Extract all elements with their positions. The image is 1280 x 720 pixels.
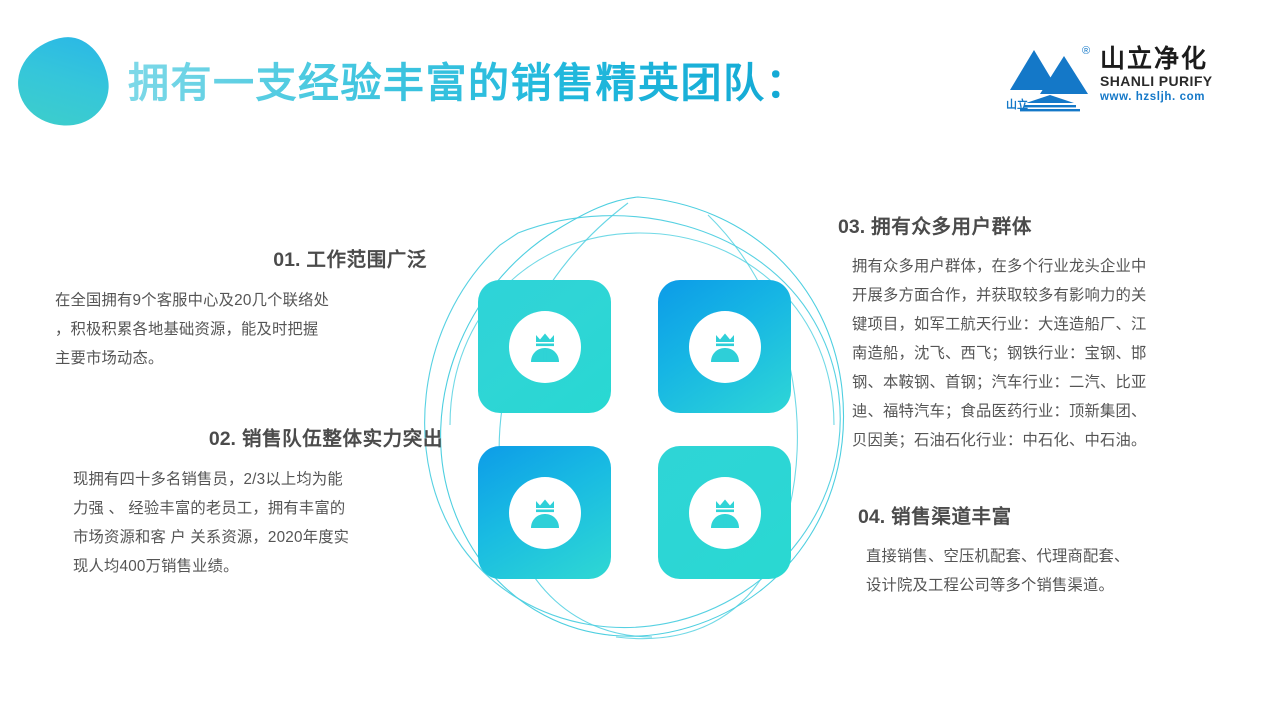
block-04-number: 04. (858, 506, 885, 528)
block-02-body: 现拥有四十多名销售员，2/3以上均为能 力强 、 经验丰富的老员工，拥有丰富的 … (55, 465, 445, 581)
logo-name-cn: 山立净化 (1100, 46, 1225, 73)
block-03-title: 拥有众多用户群体 (871, 216, 1032, 238)
block-02-line: 力强 、 经验丰富的老员工，拥有丰富的 (73, 494, 445, 523)
blob-decoration-icon (12, 32, 113, 132)
block-03-line: 南造船，沈飞、西飞；钢铁行业：宝钢、邯 (852, 339, 1238, 368)
crowned-person-icon (523, 491, 567, 535)
content-block-04: 04. 销售渠道丰富 直接销售、空压机配套、代理商配套、 设计院及工程公司等多个… (858, 500, 1258, 600)
tile-1-circle (509, 311, 581, 383)
logo-name-en: SHANLI PURIFY (1100, 73, 1225, 90)
tile-4-circle (689, 477, 761, 549)
logo-text-group: 山立净化 SHANLI PURIFY www. hzsljh. com (1100, 46, 1225, 105)
block-02-line: 市场资源和客 户 关系资源，2020年度实 (73, 523, 445, 552)
block-03-body: 拥有众多用户群体，在多个行业龙头企业中 开展多方面合作，并获取较多有影响力的关 … (838, 252, 1238, 455)
tile-2[interactable] (658, 280, 791, 413)
block-02-number: 02. (209, 428, 236, 450)
tile-3[interactable] (478, 446, 611, 579)
tile-1[interactable] (478, 280, 611, 413)
content-block-03: 03. 拥有众多用户群体 拥有众多用户群体，在多个行业龙头企业中 开展多方面合作… (838, 210, 1238, 455)
slide-header: 拥有一支经验丰富的销售精英团队： ® 山立 山立净化 SHANLI PURIFY… (0, 0, 1280, 150)
block-02-title: 销售队伍整体实力突出 (242, 428, 443, 450)
block-03-line: 拥有众多用户群体，在多个行业龙头企业中 (852, 252, 1238, 281)
registered-trademark-icon: ® (1082, 45, 1090, 57)
tile-2-circle (689, 311, 761, 383)
logo-website-url: www. hzsljh. com (1100, 90, 1225, 105)
block-02-heading: 02. 销售队伍整体实力突出 (55, 422, 445, 451)
block-02-line: 现拥有四十多名销售员，2/3以上均为能 (73, 465, 445, 494)
block-04-heading: 04. 销售渠道丰富 (858, 500, 1258, 529)
block-01-number: 01. (273, 249, 300, 271)
page-title: 拥有一支经验丰富的销售精英团队： (128, 54, 808, 112)
logo-mark-label: 山立 (1006, 96, 1028, 112)
block-04-title: 销售渠道丰富 (891, 506, 1012, 528)
block-03-number: 03. (838, 216, 865, 238)
content-block-01: 01. 工作范围广泛 在全国拥有9个客服中心及20几个联络处 ，积极积累各地基础… (55, 243, 445, 373)
company-logo: ® 山立 山立净化 SHANLI PURIFY www. hzsljh. com (1004, 44, 1222, 118)
crowned-person-icon (703, 325, 747, 369)
block-01-line: 在全国拥有9个客服中心及20几个联络处 (55, 286, 445, 315)
block-03-line: 开展多方面合作，并获取较多有影响力的关 (852, 281, 1238, 310)
center-graphic (390, 175, 890, 665)
block-03-line: 钢、本鞍钢、首钢；汽车行业：二汽、比亚 (852, 368, 1238, 397)
block-02-line: 现人均400万销售业绩。 (73, 552, 445, 581)
tile-3-circle (509, 477, 581, 549)
block-03-heading: 03. 拥有众多用户群体 (838, 210, 1238, 239)
block-03-line: 贝因美；石油石化行业：中石化、中石油。 (852, 426, 1238, 455)
crowned-person-icon (703, 491, 747, 535)
block-03-line: 键项目，如军工航天行业：大连造船厂、江 (852, 310, 1238, 339)
block-01-title: 工作范围广泛 (306, 249, 427, 271)
crowned-person-icon (523, 325, 567, 369)
tile-4[interactable] (658, 446, 791, 579)
block-01-line: 主要市场动态。 (55, 344, 445, 373)
block-03-line: 迪、福特汽车；食品医药行业：顶新集团、 (852, 397, 1238, 426)
block-01-heading: 01. 工作范围广泛 (55, 243, 445, 272)
tile-grid (478, 280, 798, 585)
block-04-line: 直接销售、空压机配套、代理商配套、 (866, 542, 1258, 571)
content-block-02: 02. 销售队伍整体实力突出 现拥有四十多名销售员，2/3以上均为能 力强 、 … (55, 422, 445, 581)
block-04-line: 设计院及工程公司等多个销售渠道。 (866, 571, 1258, 600)
block-01-line: ，积极积累各地基础资源，能及时把握 (55, 315, 445, 344)
block-01-body: 在全国拥有9个客服中心及20几个联络处 ，积极积累各地基础资源，能及时把握 主要… (55, 286, 445, 373)
block-04-body: 直接销售、空压机配套、代理商配套、 设计院及工程公司等多个销售渠道。 (858, 542, 1258, 600)
